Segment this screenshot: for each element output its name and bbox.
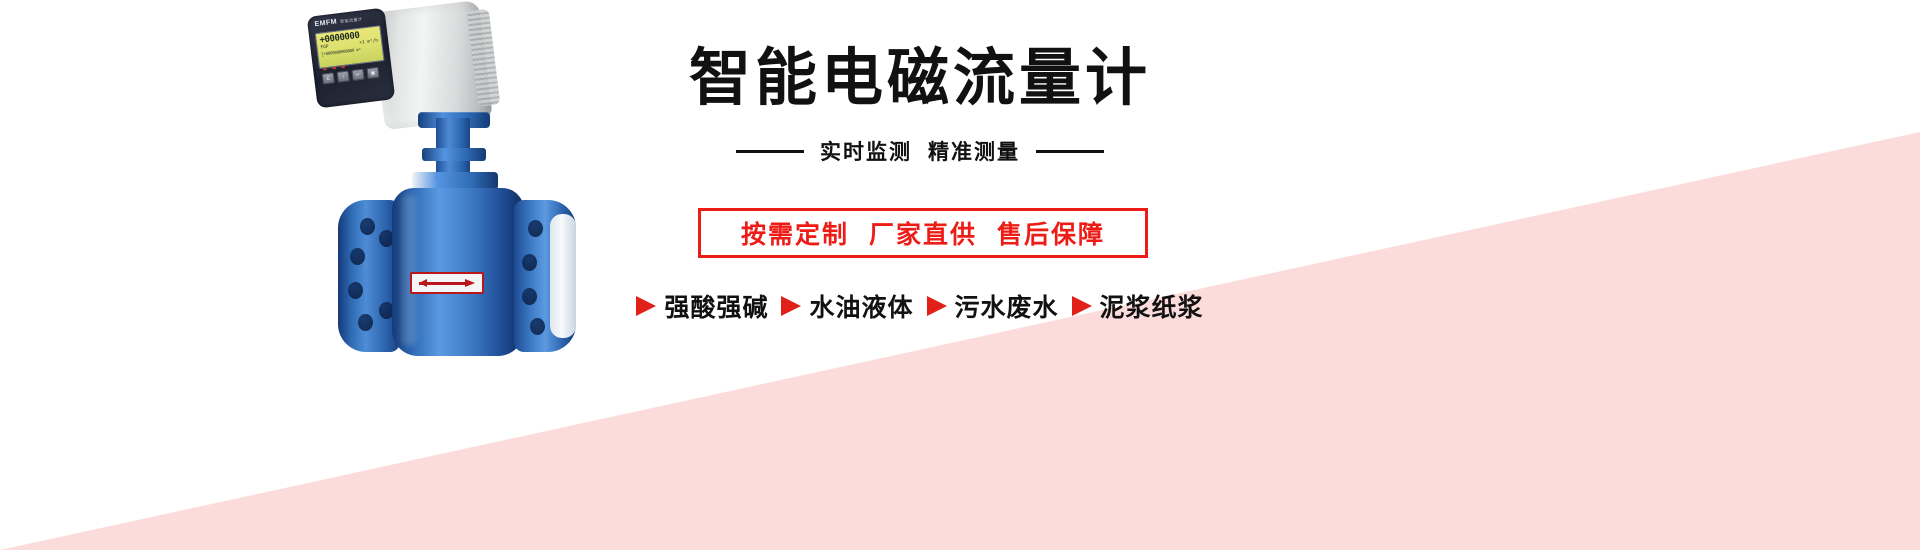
promo-banner: EMFM智能流量计 +0000000 FGP ×1 m³/h ∑+0000000… [0,0,1920,550]
subtitle-right: 精准测量 [928,141,1020,164]
rule-right-icon [1036,150,1104,153]
led-indicator [341,66,345,68]
service-badge: 按需定制厂家直供售后保障 [698,208,1148,258]
feature-label: 泥浆纸浆 [1100,288,1204,324]
triangle-right-icon [636,296,656,316]
list-item: 强酸强碱 [636,288,768,324]
badge-item-1: 按需定制 [741,221,849,249]
converter-display-panel: EMFM智能流量计 +0000000 FGP ×1 m³/h ∑+0000000… [307,8,396,109]
flange-left [338,200,400,352]
feature-label: 强酸强碱 [664,288,768,324]
list-item: 水油液体 [781,288,913,324]
flange-bolt [522,288,537,305]
brand-subtext: 智能流量计 [340,16,363,24]
subtitle-row: 实时监测精准测量 [600,136,1240,166]
list-item: 泥浆纸浆 [1072,288,1204,324]
led-indicator [332,67,336,69]
arrow-head [465,279,475,287]
subtitle-text: 实时监测精准测量 [820,136,1020,166]
flange-bolt [522,254,537,271]
flow-direction-plate [410,272,484,294]
keypad-key: E [322,72,335,84]
led-indicator [323,68,327,70]
pipe-liner [550,214,576,338]
rule-left-icon [736,150,804,153]
banner-copy: 智能电磁流量计 实时监测精准测量 按需定制厂家直供售后保障 强酸强碱 水油液体 … [600,0,1240,550]
keypad-key: ▣ [366,67,379,79]
feature-label: 水油液体 [809,288,913,324]
page-title: 智能电磁流量计 [600,44,1240,114]
badge-item-2: 厂家直供 [869,221,977,249]
flange-bolt [530,318,545,335]
flange-bolt [350,248,365,265]
triangle-right-icon [1072,296,1092,316]
badge-text: 按需定制厂家直供售后保障 [741,215,1105,251]
badge-item-3: 售后保障 [997,221,1105,249]
flange-bolt [358,314,373,331]
flow-direction-arrow-icon [419,279,475,287]
keypad-key: ↵ [351,69,364,81]
lcd-screen: +0000000 FGP ×1 m³/h ∑+0000000000000 m³ [315,25,385,69]
product-image-flow-meter: EMFM智能流量计 +0000000 FGP ×1 m³/h ∑+0000000… [300,0,630,420]
neck-flange-middle [422,148,486,161]
flange-bolt [528,220,543,237]
keypad-key: ↑ [337,70,350,82]
arrow-shaft [419,282,465,285]
flange-bolt [348,282,363,299]
triangle-right-icon [781,296,801,316]
brand-text: EMFM [314,18,337,28]
triangle-right-icon [927,296,947,316]
list-item: 污水废水 [927,288,1059,324]
subtitle-left: 实时监测 [820,141,912,164]
flange-bolt [360,218,375,235]
converter-brand-label: EMFM智能流量计 [314,15,363,28]
feature-list: 强酸强碱 水油液体 污水废水 泥浆纸浆 [590,288,1250,324]
feature-label: 污水废水 [955,288,1059,324]
